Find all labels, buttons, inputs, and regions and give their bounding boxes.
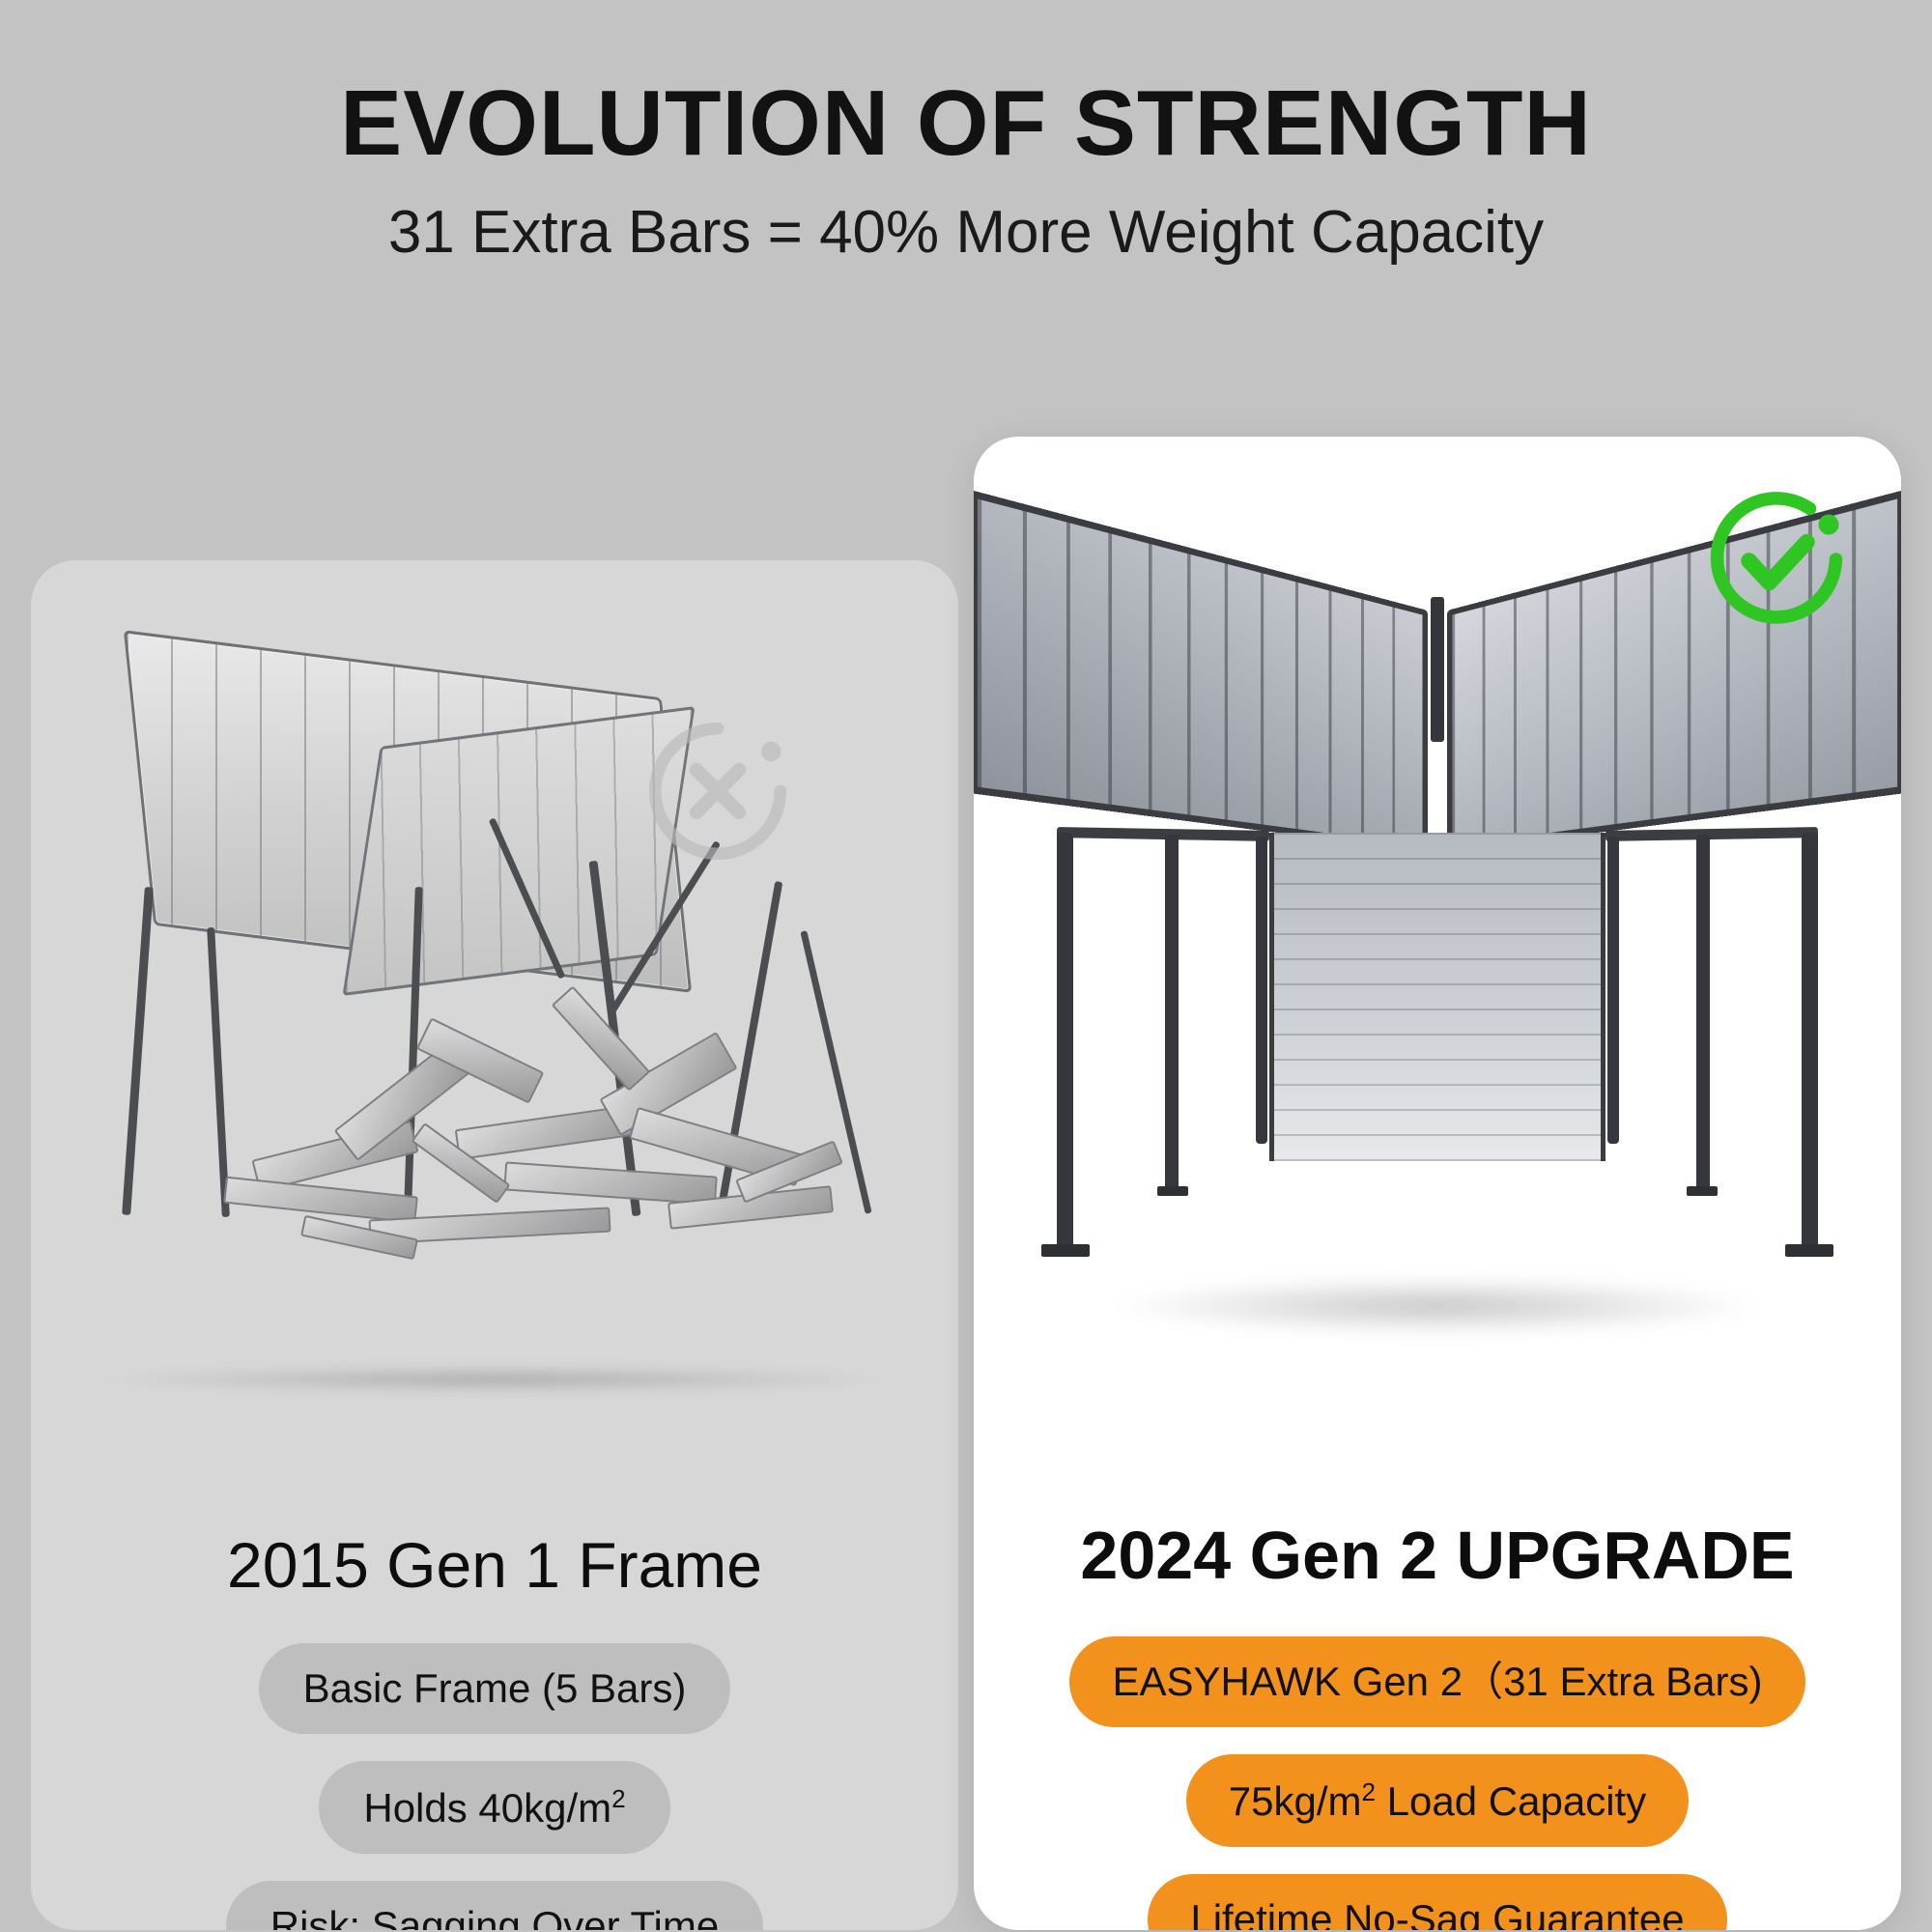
circle-check-icon	[1704, 487, 1849, 632]
card-gen2-title: 2024 Gen 2 UPGRADE	[974, 1520, 1901, 1592]
pill-risk-sagging: Risk: Sagging Over Time	[226, 1881, 764, 1930]
circle-x-icon	[641, 715, 794, 867]
pill-easyhawk-gen2: EASYHAWK Gen 2（31 Extra Bars)	[1069, 1636, 1804, 1727]
pill-load-capacity: 75kg/m2 Load Capacity	[1186, 1754, 1689, 1847]
pill-holds-capacity-text: Holds 40kg/m	[363, 1785, 611, 1831]
pill-load-capacity-sup: 2	[1362, 1777, 1376, 1806]
pill-load-capacity-text: 75kg/m	[1229, 1778, 1362, 1824]
pill-holds-capacity: Holds 40kg/m2	[319, 1761, 669, 1854]
page-title: EVOLUTION OF STRENGTH	[0, 75, 1932, 173]
pill-basic-frame: Basic Frame (5 Bars)	[259, 1643, 731, 1734]
pill-load-capacity-suffix: Load Capacity	[1376, 1778, 1646, 1824]
card-gen1-title: 2015 Gen 1 Frame	[31, 1532, 958, 1599]
pill-holds-capacity-sup: 2	[611, 1784, 625, 1813]
card-gen2-pill-list: EASYHAWK Gen 2（31 Extra Bars) 75kg/m2 Lo…	[974, 1636, 1901, 1931]
page-subtitle: 31 Extra Bars = 40% More Weight Capacity	[0, 200, 1932, 266]
comparison-cards: 2015 Gen 1 Frame Basic Frame (5 Bars) Ho…	[0, 437, 1932, 1932]
card-gen2: 2024 Gen 2 UPGRADE EASYHAWK Gen 2（31 Ext…	[974, 437, 1901, 1930]
header: EVOLUTION OF STRENGTH 31 Extra Bars = 40…	[0, 0, 1932, 266]
pill-lifetime-guarantee: Lifetime No-Sag Guarantee	[1148, 1874, 1726, 1931]
card-gen1-pill-list: Basic Frame (5 Bars) Holds 40kg/m2 Risk:…	[31, 1643, 958, 1930]
gen1-illustration	[31, 560, 958, 1526]
card-gen1: 2015 Gen 1 Frame Basic Frame (5 Bars) Ho…	[31, 560, 958, 1930]
